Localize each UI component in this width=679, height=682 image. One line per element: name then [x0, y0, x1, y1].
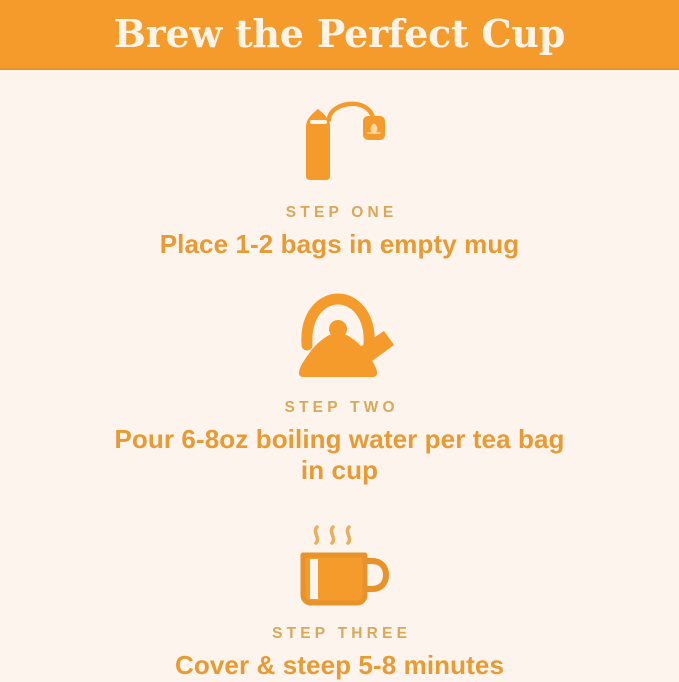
step-item-three: STEP THREE Cover & steep 5-8 minutes	[0, 513, 679, 682]
steaming-mug-icon	[282, 513, 398, 609]
step-description-one: Place 1-2 bags in empty mug	[160, 229, 520, 261]
step-label-two: STEP TWO	[280, 399, 398, 417]
step-item-one: STEP ONE Place 1-2 bags in empty mug	[0, 92, 679, 261]
step-description-two: Pour 6-8oz boiling water per tea bag in …	[105, 424, 575, 487]
step-label-one: STEP ONE	[282, 204, 398, 222]
kettle-icon	[280, 287, 400, 383]
step-label-three: STEP THREE	[268, 625, 411, 643]
steps-list: STEP ONE Place 1-2 bags in empty mug	[0, 70, 679, 682]
brew-instructions-page: Brew the Perfect Cup ST	[0, 0, 679, 679]
tea-bag-icon	[284, 92, 396, 188]
page-title: Brew the Perfect Cup	[114, 15, 565, 53]
header-bar: Brew the Perfect Cup	[0, 0, 679, 70]
step-description-three: Cover & steep 5-8 minutes	[175, 650, 504, 682]
step-item-two: STEP TWO Pour 6-8oz boiling water per te…	[0, 287, 679, 487]
